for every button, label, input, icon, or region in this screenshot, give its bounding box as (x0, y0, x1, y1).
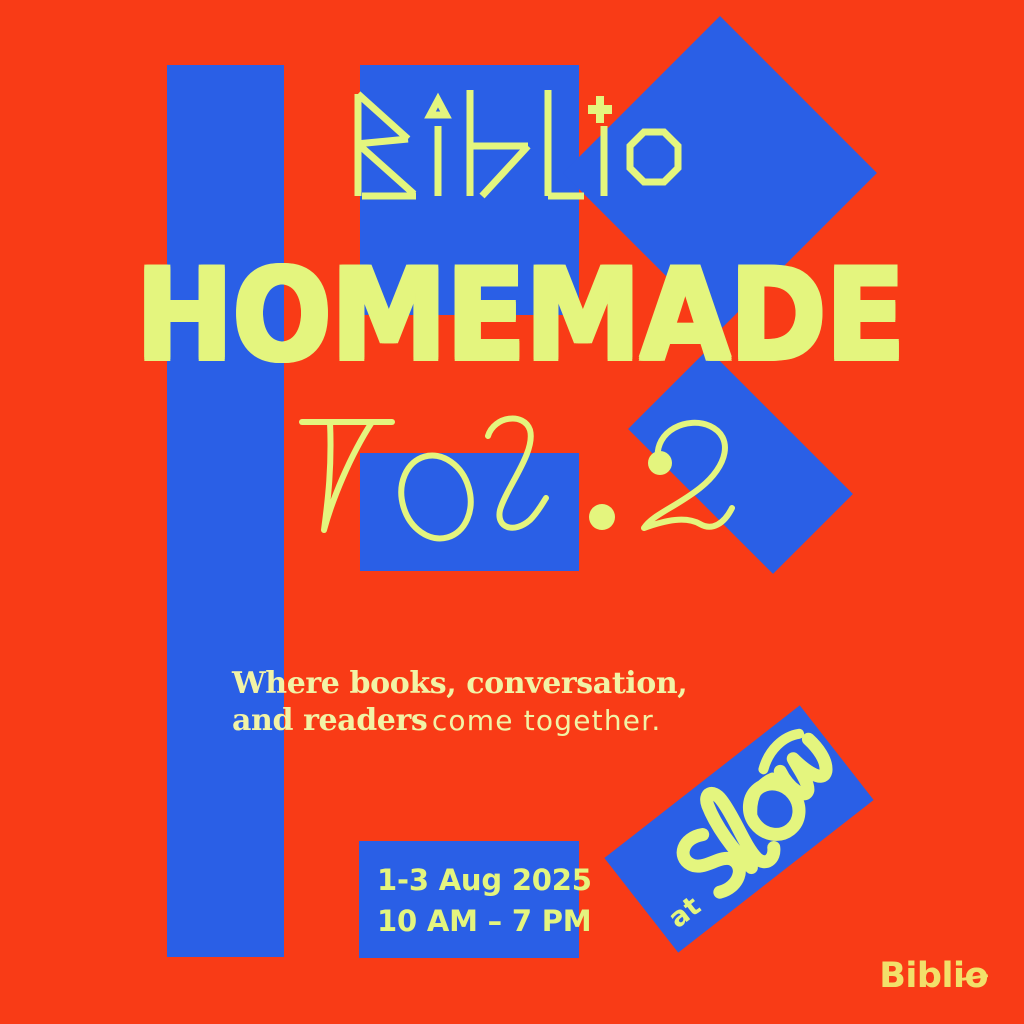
venue-badge-inner: at (604, 705, 873, 952)
slow-logotype (643, 709, 869, 921)
blue-vertical-bar (167, 65, 284, 957)
page-title: HOMEMADE (5, 252, 1024, 378)
tagline: Where books, conversation, and readers c… (232, 666, 752, 739)
tagline-light: come together. (432, 704, 662, 737)
brand-signature: Biblio (879, 959, 988, 994)
venue-badge: at (604, 705, 873, 952)
event-dates: 1-3 Aug 2025 (377, 860, 577, 901)
tagline-bold-1: Where books, conversation, (232, 666, 687, 701)
tagline-bold-2: and readers (232, 703, 427, 738)
tagline-line-1: Where books, conversation, (232, 666, 752, 703)
signature-text: Bibli (879, 956, 964, 996)
signature-slashed-o: o (964, 959, 988, 994)
event-schedule: 1-3 Aug 2025 10 AM – 7 PM (377, 860, 577, 942)
tagline-line-2: and readers come together. (232, 703, 752, 740)
volume-label (288, 404, 758, 554)
biblio-wordmark (352, 84, 692, 214)
poster-canvas: HOMEMADE Where books, conversat (0, 0, 1024, 1024)
event-hours: 10 AM – 7 PM (377, 901, 577, 942)
